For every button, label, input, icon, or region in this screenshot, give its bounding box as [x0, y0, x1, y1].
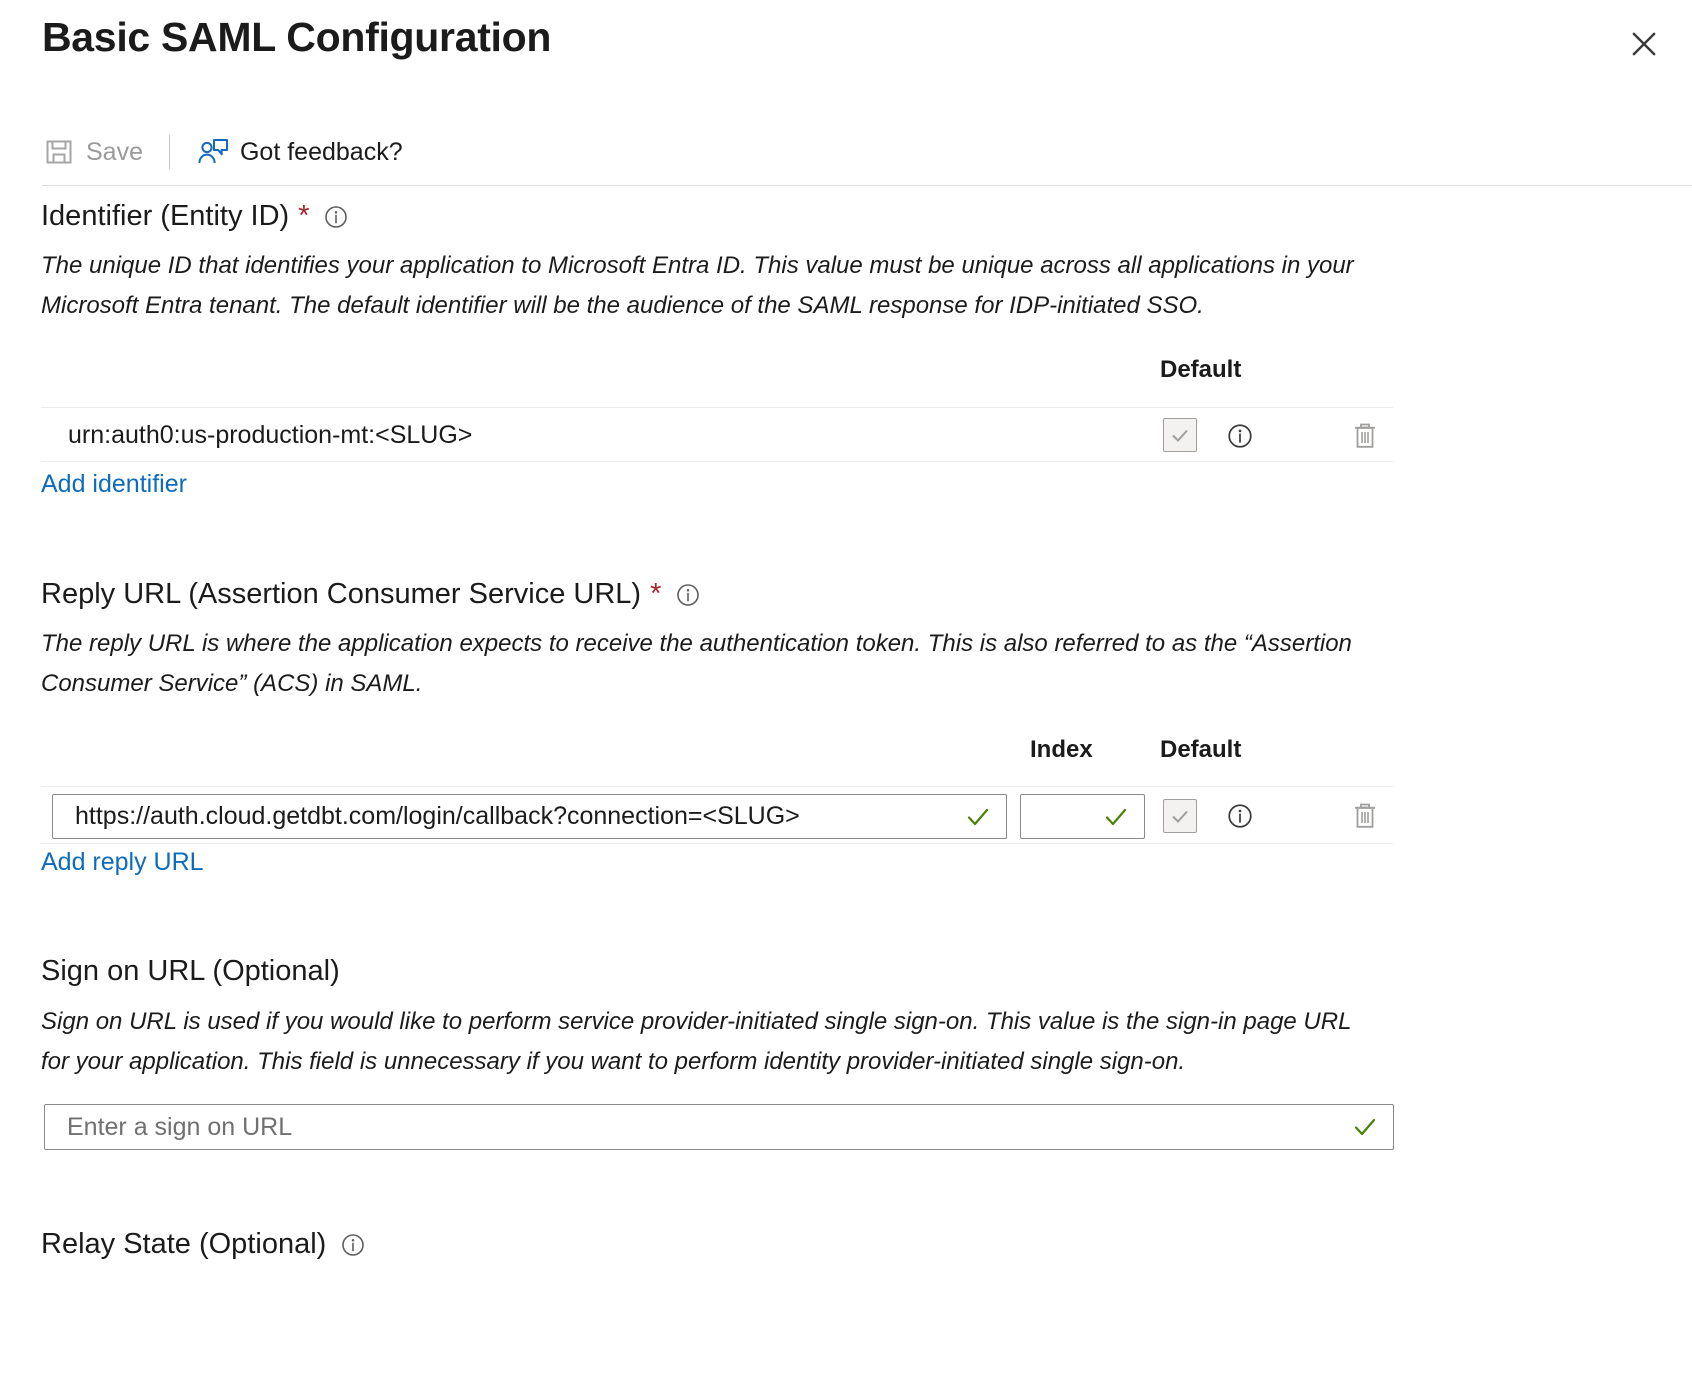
- reply-url-default-checkbox[interactable]: [1163, 799, 1197, 833]
- reply-url-valid-check-icon: [964, 803, 992, 831]
- identifier-heading-text: Identifier (Entity ID): [41, 200, 289, 233]
- reply-url-row-top-rule: [41, 786, 1393, 787]
- command-bar: Save Got feedback?: [42, 126, 403, 178]
- sign-on-url-section-heading: Sign on URL (Optional): [41, 955, 340, 988]
- reply-url-index-column-header: Index: [1030, 736, 1093, 764]
- identifier-value: urn:auth0:us-production-mt:<SLUG>: [68, 421, 472, 450]
- relay-state-heading-text: Relay State (Optional): [41, 1228, 326, 1261]
- sign-on-url-valid-check-icon: [1351, 1113, 1379, 1141]
- reply-url-default-column-header: Default: [1160, 736, 1241, 764]
- identifier-description: The unique ID that identifies your appli…: [41, 246, 1371, 326]
- relay-state-section-heading: Relay State (Optional): [41, 1228, 366, 1261]
- toolbar-separator: [169, 135, 170, 169]
- save-button[interactable]: Save: [42, 130, 143, 174]
- identifier-required-star: *: [298, 202, 309, 231]
- panel-header: Basic SAML Configuration: [0, 0, 1692, 110]
- reply-url-index-input[interactable]: [1020, 794, 1145, 839]
- got-feedback-button[interactable]: Got feedback?: [196, 130, 403, 174]
- info-icon[interactable]: [323, 204, 349, 230]
- add-reply-url-link[interactable]: Add reply URL: [41, 848, 204, 877]
- save-floppy-icon: [42, 135, 76, 169]
- reply-url-info-icon[interactable]: [1224, 800, 1256, 832]
- sign-on-url-placeholder: Enter a sign on URL: [67, 1113, 292, 1142]
- sign-on-url-heading-text: Sign on URL (Optional): [41, 955, 340, 988]
- feedback-person-icon: [196, 135, 230, 169]
- identifier-info-icon[interactable]: [1224, 420, 1256, 452]
- reply-url-input-value: https://auth.cloud.getdbt.com/login/call…: [75, 802, 800, 831]
- close-icon[interactable]: [1618, 18, 1670, 70]
- reply-url-trash-icon[interactable]: [1348, 798, 1382, 834]
- reply-url-required-star: *: [650, 580, 661, 609]
- reply-url-index-valid-check-icon: [1102, 803, 1130, 831]
- info-icon[interactable]: [340, 1232, 366, 1258]
- identifier-default-column-header: Default: [1160, 356, 1241, 384]
- save-label: Save: [86, 140, 143, 165]
- sign-on-url-description: Sign on URL is used if you would like to…: [41, 1002, 1371, 1082]
- reply-url-section-heading: Reply URL (Assertion Consumer Service UR…: [41, 578, 701, 611]
- identifier-default-checkbox[interactable]: [1163, 418, 1197, 452]
- reply-url-heading-text: Reply URL (Assertion Consumer Service UR…: [41, 578, 641, 611]
- reply-url-row-bottom-rule: [41, 843, 1393, 844]
- page-title: Basic SAML Configuration: [42, 14, 551, 61]
- identifier-row-top-rule: [41, 407, 1393, 408]
- add-identifier-link[interactable]: Add identifier: [41, 470, 187, 499]
- info-icon[interactable]: [675, 582, 701, 608]
- basic-saml-configuration-panel: Basic SAML Configuration Save: [0, 0, 1692, 1386]
- reply-url-input[interactable]: https://auth.cloud.getdbt.com/login/call…: [52, 794, 1007, 839]
- identifier-row-bottom-rule: [41, 461, 1393, 462]
- got-feedback-label: Got feedback?: [240, 140, 403, 165]
- identifier-section-heading: Identifier (Entity ID) *: [41, 200, 349, 233]
- reply-url-description: The reply URL is where the application e…: [41, 624, 1371, 704]
- identifier-trash-icon[interactable]: [1348, 418, 1382, 454]
- toolbar-divider: [42, 185, 1692, 186]
- sign-on-url-input[interactable]: Enter a sign on URL: [44, 1104, 1394, 1150]
